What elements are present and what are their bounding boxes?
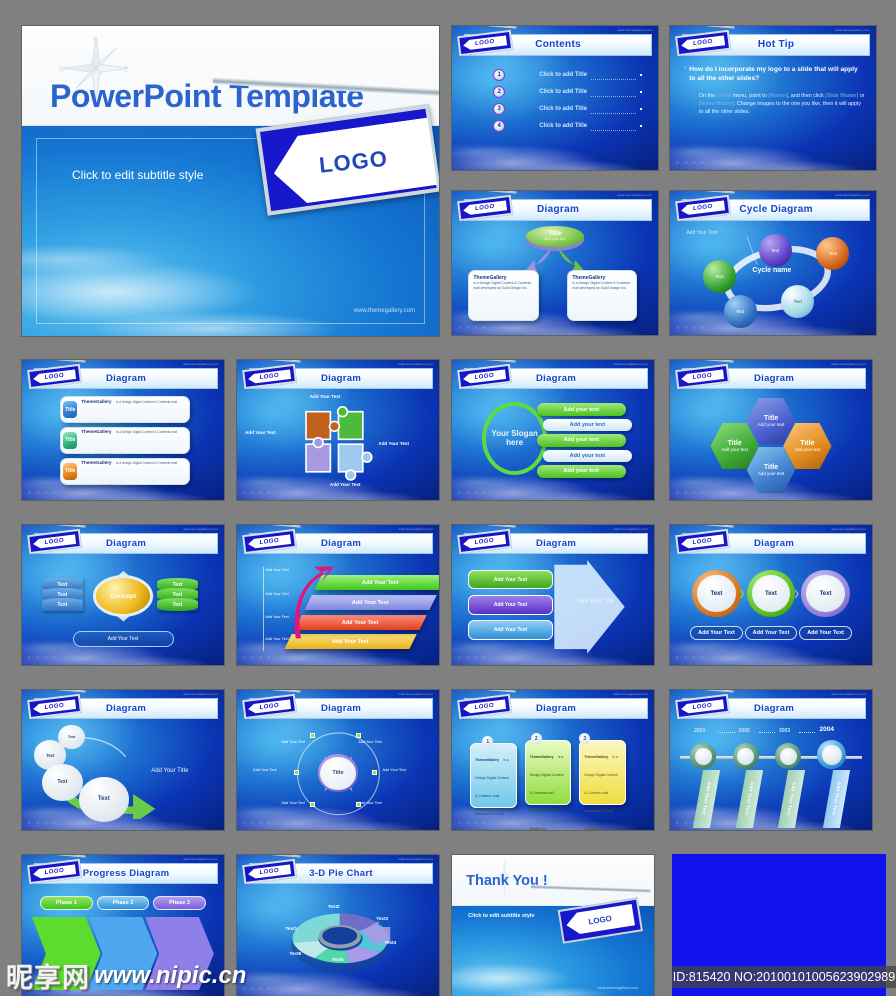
chevron-right-icon: ❯	[739, 589, 746, 598]
hex-title: Title	[727, 440, 741, 447]
card[interactable]: ThemeGallery is a Design Digital Content…	[470, 743, 516, 807]
slide-title-text: Diagram	[321, 538, 361, 549]
hex-sub: Add your text	[794, 447, 821, 452]
timeline-node[interactable]	[733, 743, 759, 769]
phase-pill[interactable]: Phase 1	[40, 896, 93, 910]
cylinder-segment: Text	[42, 598, 82, 611]
radial-label: Add Your Text	[382, 768, 405, 772]
slide-title-text: Diagram	[106, 703, 146, 714]
chevron-right-icon: ❯	[793, 589, 800, 598]
radial-node[interactable]	[372, 770, 377, 775]
list-item[interactable]: 3 Click to add Title	[493, 103, 641, 115]
sign-board: LOGO	[457, 364, 511, 389]
hex-sub: Add your text	[721, 447, 748, 452]
slide-credit: www.themegallery.com	[613, 527, 648, 531]
pie-slice-label: Text5	[332, 957, 344, 962]
bubble[interactable]: Text	[42, 764, 82, 800]
arrow-shape-icon: LOGO	[565, 904, 636, 936]
pie-slice-label: Text4	[384, 940, 396, 945]
logo-label: LOGO	[259, 538, 279, 546]
compass-n-label: N	[93, 37, 98, 44]
center-subtitle: Add your text	[544, 237, 565, 241]
pie-slice-label: Text1	[285, 926, 297, 931]
step-label: Add Your Text	[362, 580, 399, 586]
arrow-shape-icon: LOGO	[681, 699, 725, 714]
puzzle-label: Add Your Text	[245, 430, 276, 435]
slide-credit: www.themegallery.com	[398, 857, 433, 861]
slide-credit: www.themegallery.com	[398, 362, 433, 366]
list-item-label: Click to add Title	[539, 123, 587, 129]
cycle-node-label: Text	[715, 274, 723, 279]
slide-credit: www.themegallery.com	[831, 362, 866, 366]
row-title: ThemeGallery	[81, 460, 111, 465]
list-number-badge: 4	[493, 120, 505, 132]
compass-w-label: W	[59, 66, 66, 73]
slide-puzzle-diagram[interactable]: www.themegallery.com Diagram LOGO Add Yo…	[237, 360, 439, 500]
hero-logo-sign[interactable]: LOGO	[241, 69, 439, 240]
arrow-bar[interactable]: Add Your Text	[468, 595, 553, 615]
row-tile: Title	[63, 401, 77, 418]
slide-concept-diagram[interactable]: www.themegallery.com Diagram LOGO Text T…	[22, 525, 224, 665]
slide-contents[interactable]: www.themegallery.com Contents LOGO 1 Cli…	[452, 26, 658, 170]
puzzle-pieces-icon[interactable]	[290, 402, 387, 483]
slide-green-arrow-diagram[interactable]: www.themegallery.com Diagram LOGO Text T…	[22, 690, 224, 830]
slide-credit: www.themegallery.com	[835, 28, 870, 32]
card-title: ThemeGallery	[530, 755, 554, 759]
arrow-shape-icon: LOGO	[269, 117, 437, 207]
sign-board: LOGO	[457, 694, 511, 719]
sign-rail-icon	[23, 525, 86, 528]
arrow-shape-icon: LOGO	[681, 201, 726, 216]
timeline-ribbon-label: Add Your Text	[744, 782, 755, 815]
cycle-node-label: Text	[829, 251, 837, 256]
logo-label: LOGO	[692, 373, 712, 381]
sign-rail-icon	[671, 360, 734, 363]
puzzle-label: Add Your Text	[378, 441, 409, 446]
sign-board: LOGO	[242, 859, 296, 884]
hero-subtitle: Click to edit subtitle style	[72, 168, 203, 182]
slogan-bar[interactable]: Add your text	[543, 450, 632, 463]
sign-rail-icon	[671, 690, 734, 693]
slide-title-text: Diagram	[754, 373, 794, 384]
arrow-shape-icon: LOGO	[463, 534, 507, 549]
slide-arrow-diagram[interactable]: www.themegallery.com Diagram LOGO Add Yo…	[452, 525, 654, 665]
card-title: ThemeGallery	[584, 755, 608, 759]
arrow-shape-icon: LOGO	[463, 201, 508, 216]
slide-slogan-diagram[interactable]: www.themegallery.com Diagram LOGO Your S…	[452, 360, 654, 500]
sign-rail-icon	[671, 525, 734, 528]
slide-credit: www.themegallery.com	[398, 692, 433, 696]
slide-title-text: Diagram	[106, 538, 146, 549]
cylinder-stack-left[interactable]: Text Text Text	[42, 578, 82, 611]
nav-dots: » » » »	[243, 490, 272, 496]
circle-caption[interactable]: Add Your Text	[745, 626, 798, 640]
slide-credit: www.themegallery.com	[613, 362, 648, 366]
bullet-icon: ▪	[684, 65, 686, 84]
card[interactable]: ThemeGallery is a Design Digital Content…	[525, 740, 571, 804]
row-title: ThemeGallery	[81, 399, 111, 404]
slogan-bar[interactable]: Add your text	[537, 434, 626, 447]
logo-label: LOGO	[693, 204, 713, 212]
slide-thank-you[interactable]: Thank You ! Click to edit subtitle style…	[452, 855, 654, 996]
logo-label: LOGO	[474, 703, 494, 711]
side-title: Add Your Title	[151, 768, 188, 774]
slogan-bar-label: Add your text	[570, 422, 605, 428]
slide-title-text: Contents	[535, 39, 581, 50]
sign-board: LOGO	[27, 859, 81, 884]
nav-dots: » » » »	[458, 655, 487, 661]
logo-label: LOGO	[259, 868, 279, 876]
ring-circle-label: Text	[697, 575, 735, 613]
ring-circle-label: Text	[752, 575, 790, 613]
sign-board: LOGO	[242, 529, 296, 554]
ring-circle[interactable]: Text	[747, 570, 795, 618]
sign-board: LOGO	[675, 529, 729, 554]
sign-board: LOGO	[27, 694, 81, 719]
timeline-connector	[759, 732, 775, 733]
row-tile: Title	[63, 432, 77, 449]
slide-title-text: Hot Tip	[758, 39, 794, 50]
slide-steps-diagram[interactable]: www.themegallery.com Diagram LOGO Add Yo…	[237, 525, 439, 665]
info-box-body: is a Design Digital Content & Contents m…	[572, 281, 632, 291]
sign-rail-icon	[453, 26, 517, 29]
arrow-shape-icon: LOGO	[33, 534, 77, 549]
slide-credit: www.themegallery.com	[183, 362, 218, 366]
hex-title: Title	[800, 440, 814, 447]
puzzle-label: Add Your Text	[310, 394, 341, 399]
timeline-ribbon-label: Add Your Text	[786, 782, 797, 815]
radial-label: Add Your Text	[358, 801, 381, 805]
cycle-node-label: Text	[736, 309, 744, 314]
arrow-shape-icon: LOGO	[463, 36, 508, 51]
timeline-ribbon-label: Add Your Text	[701, 782, 712, 815]
slide-credit: www.themegallery.com	[183, 527, 218, 531]
timeline-year: 2001	[694, 728, 705, 734]
nav-dots: » » » »	[243, 820, 272, 826]
logo-label: LOGO	[44, 703, 64, 711]
thankyou-logo-label: LOGO	[588, 914, 613, 927]
nav-dots: » » » »	[676, 820, 705, 826]
cycle-node[interactable]: Text	[759, 234, 792, 267]
nav-dots: » » » »	[458, 820, 487, 826]
phase-chevron[interactable]	[32, 917, 101, 990]
cycle-node[interactable]: Text	[724, 295, 757, 328]
sign-rail-icon	[23, 855, 86, 858]
circle-caption[interactable]: Add Your Text	[690, 626, 743, 640]
slide-title-text: Diagram	[754, 703, 794, 714]
slide-title-text: 3-D Pie Chart	[309, 868, 373, 879]
sign-rail-icon	[671, 191, 735, 194]
radial-node[interactable]	[294, 770, 299, 775]
logo-label: LOGO	[475, 39, 495, 47]
hex-sub: Add your text	[758, 422, 785, 427]
nav-dots: » » » »	[676, 490, 705, 496]
ring-circle-label: Text	[806, 575, 844, 613]
step-label: Add Your Text	[342, 619, 379, 625]
slide-title[interactable]: N E W PowerPoint Template Click to edit …	[22, 26, 439, 336]
logo-label: LOGO	[474, 373, 494, 381]
slide-progress-diagram[interactable]: www.themegallery.com Progress Diagram LO…	[22, 855, 224, 996]
radial-label: Add Your Text	[253, 768, 276, 772]
sign-board: LOGO	[255, 104, 439, 215]
slogan-bar-label: Add your text	[570, 453, 605, 459]
sign-board: LOGO	[27, 529, 81, 554]
sign-rail-icon	[238, 855, 301, 858]
arrow-shape-icon: LOGO	[681, 369, 725, 384]
hex-sub: Add your text	[758, 471, 785, 476]
table-row[interactable]: Title ThemeGallery is a Design Digital C…	[60, 458, 189, 485]
nav-dots: » » » »	[28, 655, 57, 661]
status-badge: ID:815420 NO:20100101005623902989	[672, 966, 896, 988]
arrow-shape-icon: LOGO	[33, 864, 77, 879]
sign-rail-icon	[453, 690, 516, 693]
card-body: is a Design Digital Content & Contents m…	[530, 755, 564, 830]
cycle-node-label: Text	[771, 248, 779, 253]
logo-label: LOGO	[692, 538, 712, 546]
cycle-node[interactable]: Text	[703, 260, 736, 293]
radial-center[interactable]: Title	[318, 754, 358, 792]
list-item[interactable]: 1 Click to add Title	[493, 69, 641, 81]
card-body: is a Design Digital Content & Contents m…	[584, 755, 618, 830]
nav-dots: » » » »	[28, 490, 57, 496]
slide-credit: www.themegallery.com	[398, 527, 433, 531]
pie-slice-label: Text2	[328, 904, 340, 909]
info-box[interactable]: ThemeGallery is a Design Digital Content…	[468, 270, 538, 320]
radial-label: Add Your Text	[281, 740, 304, 744]
slogan-bar[interactable]: Add your text	[543, 419, 632, 432]
hex-title: Title	[764, 415, 778, 422]
thankyou-subtitle: Click to edit subtitle style	[468, 913, 534, 919]
slide-three-circle-diagram[interactable]: www.themegallery.com Diagram LOGO Text T…	[670, 525, 872, 665]
slide-title-text: Diagram	[321, 703, 361, 714]
slide-radial-diagram[interactable]: www.themegallery.com Diagram LOGO Title …	[237, 690, 439, 830]
logo-label: LOGO	[259, 373, 279, 381]
slogan-bar[interactable]: Add your text	[537, 403, 626, 416]
info-box-body: is a Design Digital Content & Contents m…	[473, 281, 533, 291]
logo-label: LOGO	[44, 538, 64, 546]
arrow-bar[interactable]: Add Your Text	[468, 620, 553, 640]
contents-list: 1 Click to add Title 2 Click to add Titl…	[493, 69, 641, 137]
row-title: ThemeGallery	[81, 429, 111, 434]
arrow-bar[interactable]: Add Your Text	[468, 570, 553, 590]
logo-label: LOGO	[692, 703, 712, 711]
info-box[interactable]: ThemeGallery is a Design Digital Content…	[567, 270, 637, 320]
tip-question-row: ▪ How do I incorporate my logo to a slid…	[684, 65, 865, 84]
slide-credit: www.themegallery.com	[617, 28, 652, 32]
puzzle-label: Add Your Text	[330, 482, 361, 487]
logo-label: LOGO	[474, 538, 494, 546]
cycle-node[interactable]: Text	[781, 285, 814, 318]
slide-title-text: Diagram	[536, 538, 576, 549]
hex-title: Title	[764, 464, 778, 471]
nav-dots: » » » »	[243, 655, 272, 661]
circle-caption[interactable]: Add Your Text	[799, 626, 852, 640]
sign-rail-icon	[238, 525, 301, 528]
tip-question: How do I incorporate my logo to a slide …	[689, 65, 866, 84]
arrow-shape-icon: LOGO	[248, 864, 292, 879]
slide-title-text: Diagram	[321, 373, 361, 384]
timeline-connector	[718, 732, 734, 733]
sign-board: LOGO	[457, 529, 511, 554]
footer-pill[interactable]: Add Your Text	[73, 631, 174, 646]
arrow-shape-icon: LOGO	[33, 369, 77, 384]
nav-dots: » » » »	[458, 325, 487, 331]
big-arrow-icon	[539, 560, 640, 654]
slide-title-text: Cycle Diagram	[739, 204, 812, 215]
nav-dots: » » » »	[243, 986, 272, 992]
tip-answer-row: ▪ On the [View] menu, point to [Master],…	[694, 93, 865, 116]
slide-credit: www.themegallery.com	[831, 527, 866, 531]
row-tile: Title	[63, 463, 77, 480]
timeline-node[interactable]	[690, 743, 716, 769]
slide-credit: www.themegallery.com	[183, 857, 218, 861]
sign-board: LOGO	[242, 364, 296, 389]
timeline-ribbon-label: Add Your Text	[831, 782, 842, 815]
slide-title-text: Diagram	[106, 373, 146, 384]
timeline-ribbon[interactable]: Add Your Text	[778, 770, 805, 828]
hero-credit: www.themegallery.com	[354, 308, 415, 314]
arrow-shape-icon: LOGO	[463, 369, 507, 384]
sign-rail-icon	[453, 360, 516, 363]
timeline-year: 2004	[819, 726, 833, 733]
radial-node[interactable]	[310, 802, 315, 807]
sign-board: LOGO	[675, 364, 729, 389]
logo-label: LOGO	[259, 703, 279, 711]
arrow-shape-icon: LOGO	[681, 534, 725, 549]
slide-credit: www.themegallery.com	[831, 692, 866, 696]
arrow-shape-icon: LOGO	[248, 534, 292, 549]
slogan-text: Your Slogan here	[486, 429, 543, 447]
timeline-year: 2002	[739, 728, 750, 734]
row-body: is a Design Digital Content & Contents m…	[81, 461, 177, 488]
arrow-shape-icon: LOGO	[33, 699, 77, 714]
axis-line	[263, 567, 264, 651]
ring-circle[interactable]: Text	[801, 570, 849, 618]
slide-title-text: Diagram	[754, 538, 794, 549]
hero-logo-label: LOGO	[318, 146, 389, 179]
list-number-badge: 3	[493, 103, 505, 115]
slide-hot-tip[interactable]: www.themegallery.com Hot Tip LOGO ▪ How …	[670, 26, 876, 170]
slide-title-text: Progress Diagram	[83, 868, 170, 879]
slide-title-text: Diagram	[536, 373, 576, 384]
phase-pill[interactable]: Phase 3	[153, 896, 206, 910]
compass-e-label: E	[124, 66, 129, 73]
radial-center-label: Title	[320, 757, 355, 790]
arrow-shape-icon: LOGO	[248, 699, 292, 714]
sign-rail-icon	[238, 690, 301, 693]
slide-title-text: Diagram	[537, 204, 579, 215]
nav-dots: » » » »	[28, 986, 57, 992]
card-title: ThemeGallery	[475, 758, 499, 762]
list-item-label: Click to add Title	[539, 72, 587, 78]
sign-rail-icon	[671, 26, 735, 29]
list-item-label: Click to add Title	[539, 89, 587, 95]
nav-dots: » » » »	[28, 820, 57, 826]
pie-slice-label: Text3	[376, 916, 388, 921]
timeline-node[interactable]	[817, 740, 846, 769]
list-item[interactable]: 2 Click to add Title	[493, 86, 641, 98]
step-label: Add Your Text	[352, 600, 389, 606]
phase-pill[interactable]: Phase 2	[97, 896, 150, 910]
radial-label: Add Your Text	[358, 740, 381, 744]
sign-rail-icon	[453, 191, 517, 194]
slide-pie-chart[interactable]: www.themegallery.com 3-D Pie Chart LOGO …	[237, 855, 439, 996]
slide-diagram-three-rows[interactable]: www.themegallery.com Diagram LOGO Title …	[22, 360, 224, 500]
arrow-shape-icon: LOGO	[248, 369, 292, 384]
slide-cycle-diagram[interactable]: www.themegallery.com Cycle Diagram LOGO …	[670, 191, 876, 335]
slogan-bar-label: Add your text	[564, 437, 599, 443]
slide-credit: www.themegallery.com	[183, 692, 218, 696]
list-number-badge: 1	[493, 69, 505, 81]
slide-title-text: Diagram	[536, 703, 576, 714]
slide-diagram-two-box[interactable]: www.themegallery.com Diagram LOGO Title …	[452, 191, 658, 335]
pie-chart-icon[interactable]	[265, 894, 414, 981]
slogan-bar[interactable]: Add your text	[537, 465, 626, 478]
list-item-label: Click to add Title	[539, 106, 587, 112]
sign-rail-icon	[453, 525, 516, 528]
list-number-badge: 2	[493, 86, 505, 98]
nav-dots: » » » »	[676, 655, 705, 661]
ring-circle[interactable]: Text	[692, 570, 740, 618]
list-item[interactable]: 4 Click to add Title	[493, 120, 641, 132]
sign-rail-icon	[23, 690, 86, 693]
nav-dots: » » » »	[676, 325, 705, 331]
sign-board: LOGO	[242, 694, 296, 719]
sign-rail-icon	[23, 360, 86, 363]
arrow-shape-icon: LOGO	[681, 36, 726, 51]
bullet-icon: ▪	[694, 93, 695, 116]
timeline-connector	[799, 732, 815, 733]
slide-credit: www.themegallery.com	[613, 692, 648, 696]
slide-hex-diagram[interactable]: www.themegallery.com Diagram LOGO Title …	[670, 360, 872, 500]
bubble[interactable]: Text	[79, 777, 130, 822]
slide-timeline-diagram[interactable]: www.themegallery.com Diagram LOGO 2001 2…	[670, 690, 872, 830]
cycle-center-label: Cycle name	[752, 267, 791, 274]
slide-credit: www.themegallery.com	[835, 193, 870, 197]
timeline-ribbon[interactable]: Add Your Text	[736, 770, 763, 828]
nav-dots: » » » »	[458, 490, 487, 496]
tip-answer: On the [View] menu, point to [Master], a…	[699, 93, 866, 116]
card[interactable]: ThemeGallery is a Design Digital Content…	[579, 740, 625, 804]
sign-board: LOGO	[557, 897, 643, 944]
timeline-ribbon[interactable]: Add Your Text	[822, 770, 849, 828]
radial-label: Add Your Text	[281, 801, 304, 805]
logo-label: LOGO	[44, 868, 64, 876]
curved-arrow-icon	[285, 564, 338, 641]
concept-label: Concept	[110, 593, 136, 600]
sign-board: LOGO	[675, 694, 729, 719]
slogan-bar-label: Add your text	[564, 407, 599, 413]
slide-credit: www.themegallery.com	[617, 193, 652, 197]
timeline-year: 2003	[779, 728, 790, 734]
logo-label: LOGO	[693, 39, 713, 47]
timeline-node[interactable]	[775, 743, 801, 769]
radial-node[interactable]	[310, 733, 315, 738]
nav-dots: » » » »	[676, 160, 705, 166]
pie-slice-label: Text6	[290, 951, 302, 956]
arrow-title: Add Your Title	[577, 599, 614, 605]
sign-board: LOGO	[27, 364, 81, 389]
cycle-node-label: Text	[794, 299, 802, 304]
sign-rail-icon	[238, 360, 301, 363]
thankyou-credit: www.themegallery.com	[597, 985, 638, 990]
center-ellipse[interactable]: Title Add your text	[526, 226, 584, 248]
arrow-shape-icon: LOGO	[463, 699, 507, 714]
radial-node[interactable]	[356, 802, 361, 807]
radial-node[interactable]	[356, 733, 361, 738]
slogan-bar-label: Add your text	[564, 468, 599, 474]
slide-three-card-diagram[interactable]: www.themegallery.com Diagram LOGO 1 2 3 …	[452, 690, 654, 830]
